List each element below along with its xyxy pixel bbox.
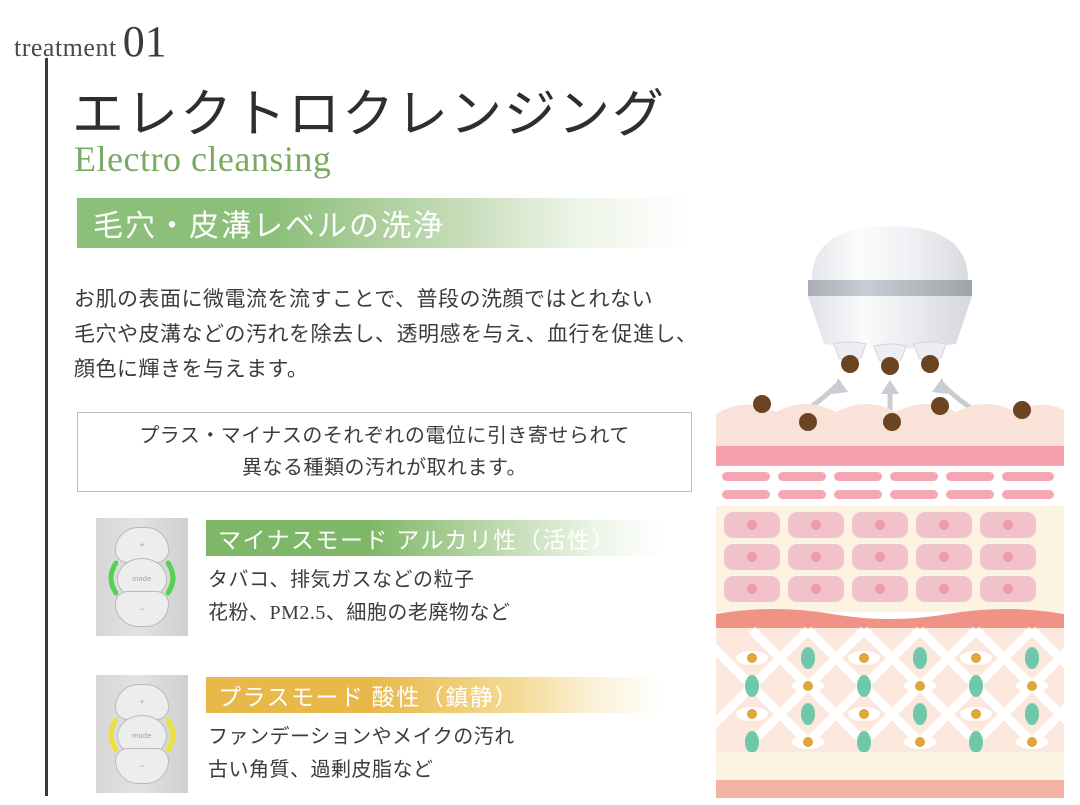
mode-row-plus: + mode − プラスモード 酸性（鎮静） ファンデーションやメイクの汚れ 古… xyxy=(96,675,696,793)
horny-layer-cells xyxy=(722,472,1054,499)
mode-detail-line-1-minus: タバコ、排気ガスなどの粒子 xyxy=(208,564,678,597)
section-banner-label: 毛穴・皮溝レベルの洗浄 xyxy=(93,201,445,245)
arc-left-icon-minus xyxy=(104,560,118,596)
callout-box: プラス・マイナスのそれぞれの電位に引き寄せられて 異なる種類の汚れが取れます。 xyxy=(77,412,692,492)
treatment-eyebrow-number: 01 xyxy=(123,17,167,66)
device-control-icon-plus: + mode − xyxy=(96,675,188,793)
mode-row-minus: + mode − マイナスモード アルカリ性（活性） タバコ、排気ガスなどの粒子… xyxy=(96,518,696,636)
mode-banner-label-minus: マイナスモード アルカリ性（活性） xyxy=(218,521,616,555)
mode-banner-plus: プラスモード 酸性（鎮静） xyxy=(206,677,661,713)
arc-right-icon-plus xyxy=(166,717,180,753)
device-minus-button-minus[interactable]: − xyxy=(115,591,169,627)
vertical-accent-rule xyxy=(45,58,48,796)
treatment-eyebrow: treatment01 xyxy=(14,16,167,67)
description-paragraph: お肌の表面に微電流を流すことで、普段の洗顔ではとれない 毛穴や皮溝などの汚れを除… xyxy=(74,282,714,387)
treatment-eyebrow-label: treatment xyxy=(14,33,117,62)
section-banner: 毛穴・皮溝レベルの洗浄 xyxy=(77,198,692,248)
page-root: treatment01 エレクトロクレンジング Electro cleansin… xyxy=(0,0,1080,805)
epidermal-cell-rows xyxy=(724,512,1036,602)
description-line-3: 顔色に輝きを与えます。 xyxy=(74,352,714,387)
device-minus-button-plus[interactable]: − xyxy=(115,748,169,784)
arc-left-icon-plus xyxy=(104,717,118,753)
device-head-icon xyxy=(808,226,972,375)
mode-detail-line-1-plus: ファンデーションやメイクの汚れ xyxy=(208,721,678,754)
mode-details-plus: ファンデーションやメイクの汚れ 古い角質、過剰皮脂など xyxy=(208,721,678,787)
arc-right-icon-minus xyxy=(166,560,180,596)
page-title-jp: エレクトロクレンジング xyxy=(72,72,666,147)
arrow-heads-icon xyxy=(832,378,948,394)
callout-line-1: プラス・マイナスのそれぞれの電位に引き寄せられて xyxy=(139,420,630,452)
page-title-en: Electro cleansing xyxy=(74,138,331,180)
mode-details-minus: タバコ、排気ガスなどの粒子 花粉、PM2.5、細胞の老廃物など xyxy=(208,564,678,630)
mode-banner-minus: マイナスモード アルカリ性（活性） xyxy=(206,520,661,556)
mode-banner-label-plus: プラスモード 酸性（鎮静） xyxy=(218,678,519,712)
callout-line-2: 異なる種類の汚れが取れます。 xyxy=(242,452,527,484)
skin-cross-section-illustration xyxy=(716,218,1064,798)
description-line-1: お肌の表面に微電流を流すことで、普段の洗顔ではとれない xyxy=(74,282,714,317)
description-line-2: 毛穴や皮溝などの汚れを除去し、透明感を与え、血行を促進し、 xyxy=(74,317,714,352)
device-control-icon-minus: + mode − xyxy=(96,518,188,636)
mode-detail-line-2-minus: 花粉、PM2.5、細胞の老廃物など xyxy=(208,597,678,630)
mode-detail-line-2-plus: 古い角質、過剰皮脂など xyxy=(208,754,678,787)
